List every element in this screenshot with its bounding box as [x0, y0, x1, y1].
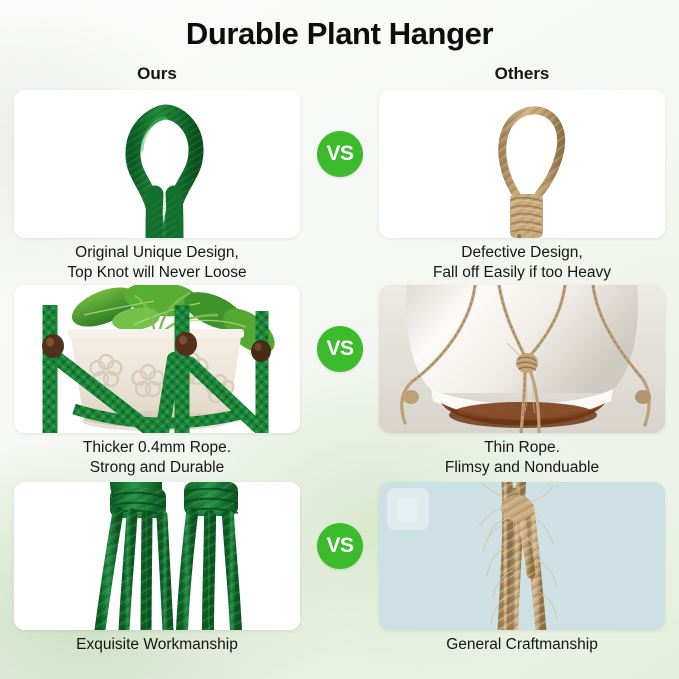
caption-others-row3: General Craftmanship	[372, 635, 672, 655]
image-card-ours-row1	[14, 90, 300, 238]
comparison-infographic: Durable Plant Hanger Ours Others	[0, 0, 679, 679]
jute-rope-loop-wrapped-knot-image	[379, 90, 665, 238]
vs-badge-row2: VS	[317, 326, 363, 372]
caption-line: Strong and Durable	[7, 458, 307, 478]
page-title: Durable Plant Hanger	[0, 16, 679, 52]
caption-ours-row3: Exquisite Workmanship	[7, 635, 307, 655]
image-card-others-row2	[379, 285, 665, 433]
green-rope-loop-knot-image	[14, 90, 300, 238]
caption-line: Thicker 0.4mm Rope.	[7, 438, 307, 458]
image-card-ours-row3	[14, 482, 300, 630]
caption-line: Thin Rope.	[372, 438, 672, 458]
caption-line: Fall off Easily if too Heavy	[372, 263, 672, 283]
frayed-jute-rope-strands-image	[379, 482, 665, 630]
image-card-others-row3	[379, 482, 665, 630]
caption-ours-row2: Thicker 0.4mm Rope. Strong and Durable	[7, 438, 307, 478]
vs-badge-row1: VS	[317, 131, 363, 177]
caption-line: General Craftmanship	[372, 635, 672, 655]
caption-line: Defective Design,	[372, 243, 672, 263]
caption-others-row2: Thin Rope. Flimsy and Nonduable	[372, 438, 672, 478]
thin-jute-twine-ceramic-pot-image	[379, 285, 665, 433]
caption-line: Exquisite Workmanship	[7, 635, 307, 655]
vs-badge-row3: VS	[317, 523, 363, 569]
caption-line: Top Knot will Never Loose	[7, 263, 307, 283]
caption-line: Original Unique Design,	[7, 243, 307, 263]
image-card-ours-row2	[14, 285, 300, 433]
caption-line: Flimsy and Nonduable	[372, 458, 672, 478]
column-header-ours: Ours	[14, 64, 300, 84]
column-header-others: Others	[379, 64, 665, 84]
green-macrame-hanger-floral-pot-image	[14, 285, 300, 433]
caption-ours-row1: Original Unique Design, Top Knot will Ne…	[7, 243, 307, 283]
caption-others-row1: Defective Design, Fall off Easily if too…	[372, 243, 672, 283]
image-card-others-row1	[379, 90, 665, 238]
green-twisted-rope-strands-image	[14, 482, 300, 630]
